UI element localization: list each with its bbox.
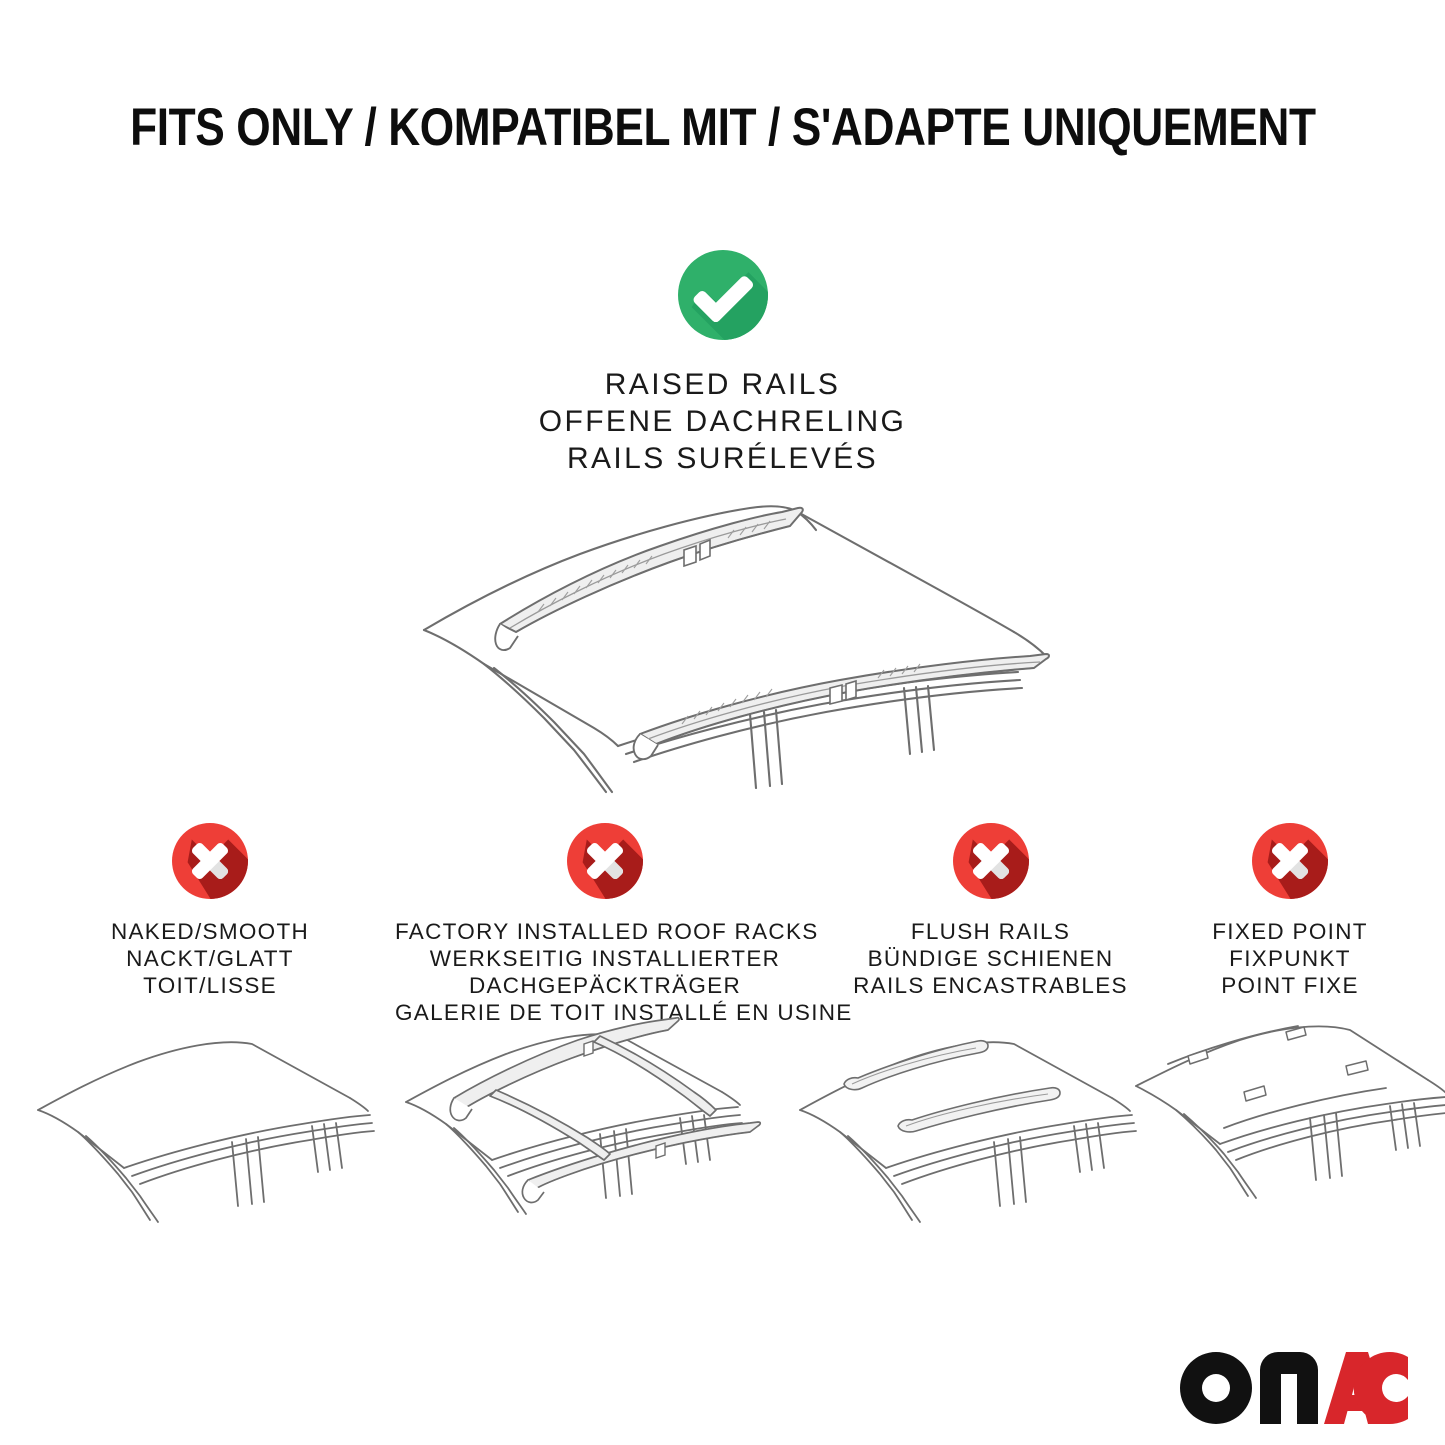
x-circle-icon-svg (950, 820, 1032, 902)
car-roof-with-factory-crossbars-illustration (392, 998, 762, 1250)
label-line: POINT FIXE (1160, 972, 1420, 999)
logo-letter-m (1260, 1352, 1318, 1424)
car-roof-with-raised-rails-illustration (398, 492, 1058, 792)
label-line: FIXPUNKT (1160, 945, 1420, 972)
check-circle-icon (674, 246, 772, 344)
x-circle-icon-svg (1249, 820, 1331, 902)
label-line: FIXED POINT (1160, 918, 1420, 945)
label-line: NACKT/GLATT (45, 945, 375, 972)
car-roof-naked-smooth-illustration (20, 1018, 380, 1248)
x-circle-icon (564, 820, 646, 902)
raised-rail-far (495, 508, 803, 650)
omac-logo-svg (1176, 1348, 1408, 1426)
label-line: WERKSEITIG INSTALLIERTER (395, 945, 815, 972)
page-title: FITS ONLY / KOMPATIBEL MIT / S'ADAPTE UN… (0, 98, 1445, 158)
incompatible-item-factory-roof-racks: FACTORY INSTALLED ROOF RACKS WERKSEITIG … (395, 820, 815, 1026)
compatible-label: RAISED RAILS OFFENE DACHRELING RAILS SUR… (0, 366, 1445, 477)
label-line: DACHGEPÄCKTRÄGER (395, 972, 815, 999)
car-roof-with-fixed-points-illustration (1128, 1018, 1445, 1250)
x-circle-icon (1249, 820, 1331, 902)
incompatible-label-flush-rails: FLUSH RAILS BÜNDIGE SCHIENEN RAILS ENCAS… (838, 918, 1143, 999)
label-line: NAKED/SMOOTH (45, 918, 375, 945)
compatible-label-line-2: OFFENE DACHRELING (0, 403, 1445, 440)
raised-rails-roof-svg (398, 492, 1058, 792)
x-circle-icon-svg (564, 820, 646, 902)
naked-roof-svg (20, 1018, 380, 1248)
x-circle-icon (169, 820, 251, 902)
incompatible-item-fixed-point: FIXED POINT FIXPUNKT POINT FIXE (1160, 820, 1420, 999)
label-line: TOIT/LISSE (45, 972, 375, 999)
fixed-point-roof-svg (1128, 1018, 1445, 1250)
car-roof-with-flush-rails-illustration (782, 1018, 1142, 1248)
incompatible-item-naked-smooth: NAKED/SMOOTH NACKT/GLATT TOIT/LISSE (45, 820, 375, 999)
compatible-label-line-3: RAILS SURÉLEVÉS (0, 440, 1445, 477)
page-title-text: FITS ONLY / KOMPATIBEL MIT / S'ADAPTE UN… (130, 98, 1315, 158)
incompatible-label-naked-smooth: NAKED/SMOOTH NACKT/GLATT TOIT/LISSE (45, 918, 375, 999)
label-line: FLUSH RAILS (838, 918, 1143, 945)
x-circle-icon-svg (169, 820, 251, 902)
logo-letter-o (1180, 1352, 1252, 1424)
omac-logo (1176, 1348, 1408, 1426)
compatible-label-line-1: RAISED RAILS (0, 366, 1445, 403)
compatible-section: RAISED RAILS OFFENE DACHRELING RAILS SUR… (0, 246, 1445, 477)
x-circle-icon (950, 820, 1032, 902)
flush-rails-roof-svg (782, 1018, 1142, 1248)
incompatible-label-fixed-point: FIXED POINT FIXPUNKT POINT FIXE (1160, 918, 1420, 999)
product-compatibility-infographic: FITS ONLY / KOMPATIBEL MIT / S'ADAPTE UN… (0, 0, 1445, 1445)
factory-racks-roof-svg (392, 998, 762, 1250)
check-circle-icon-svg (674, 246, 772, 344)
label-line: FACTORY INSTALLED ROOF RACKS (395, 918, 815, 945)
incompatible-item-flush-rails: FLUSH RAILS BÜNDIGE SCHIENEN RAILS ENCAS… (838, 820, 1143, 999)
label-line: BÜNDIGE SCHIENEN (838, 945, 1143, 972)
label-line: RAILS ENCASTRABLES (838, 972, 1143, 999)
